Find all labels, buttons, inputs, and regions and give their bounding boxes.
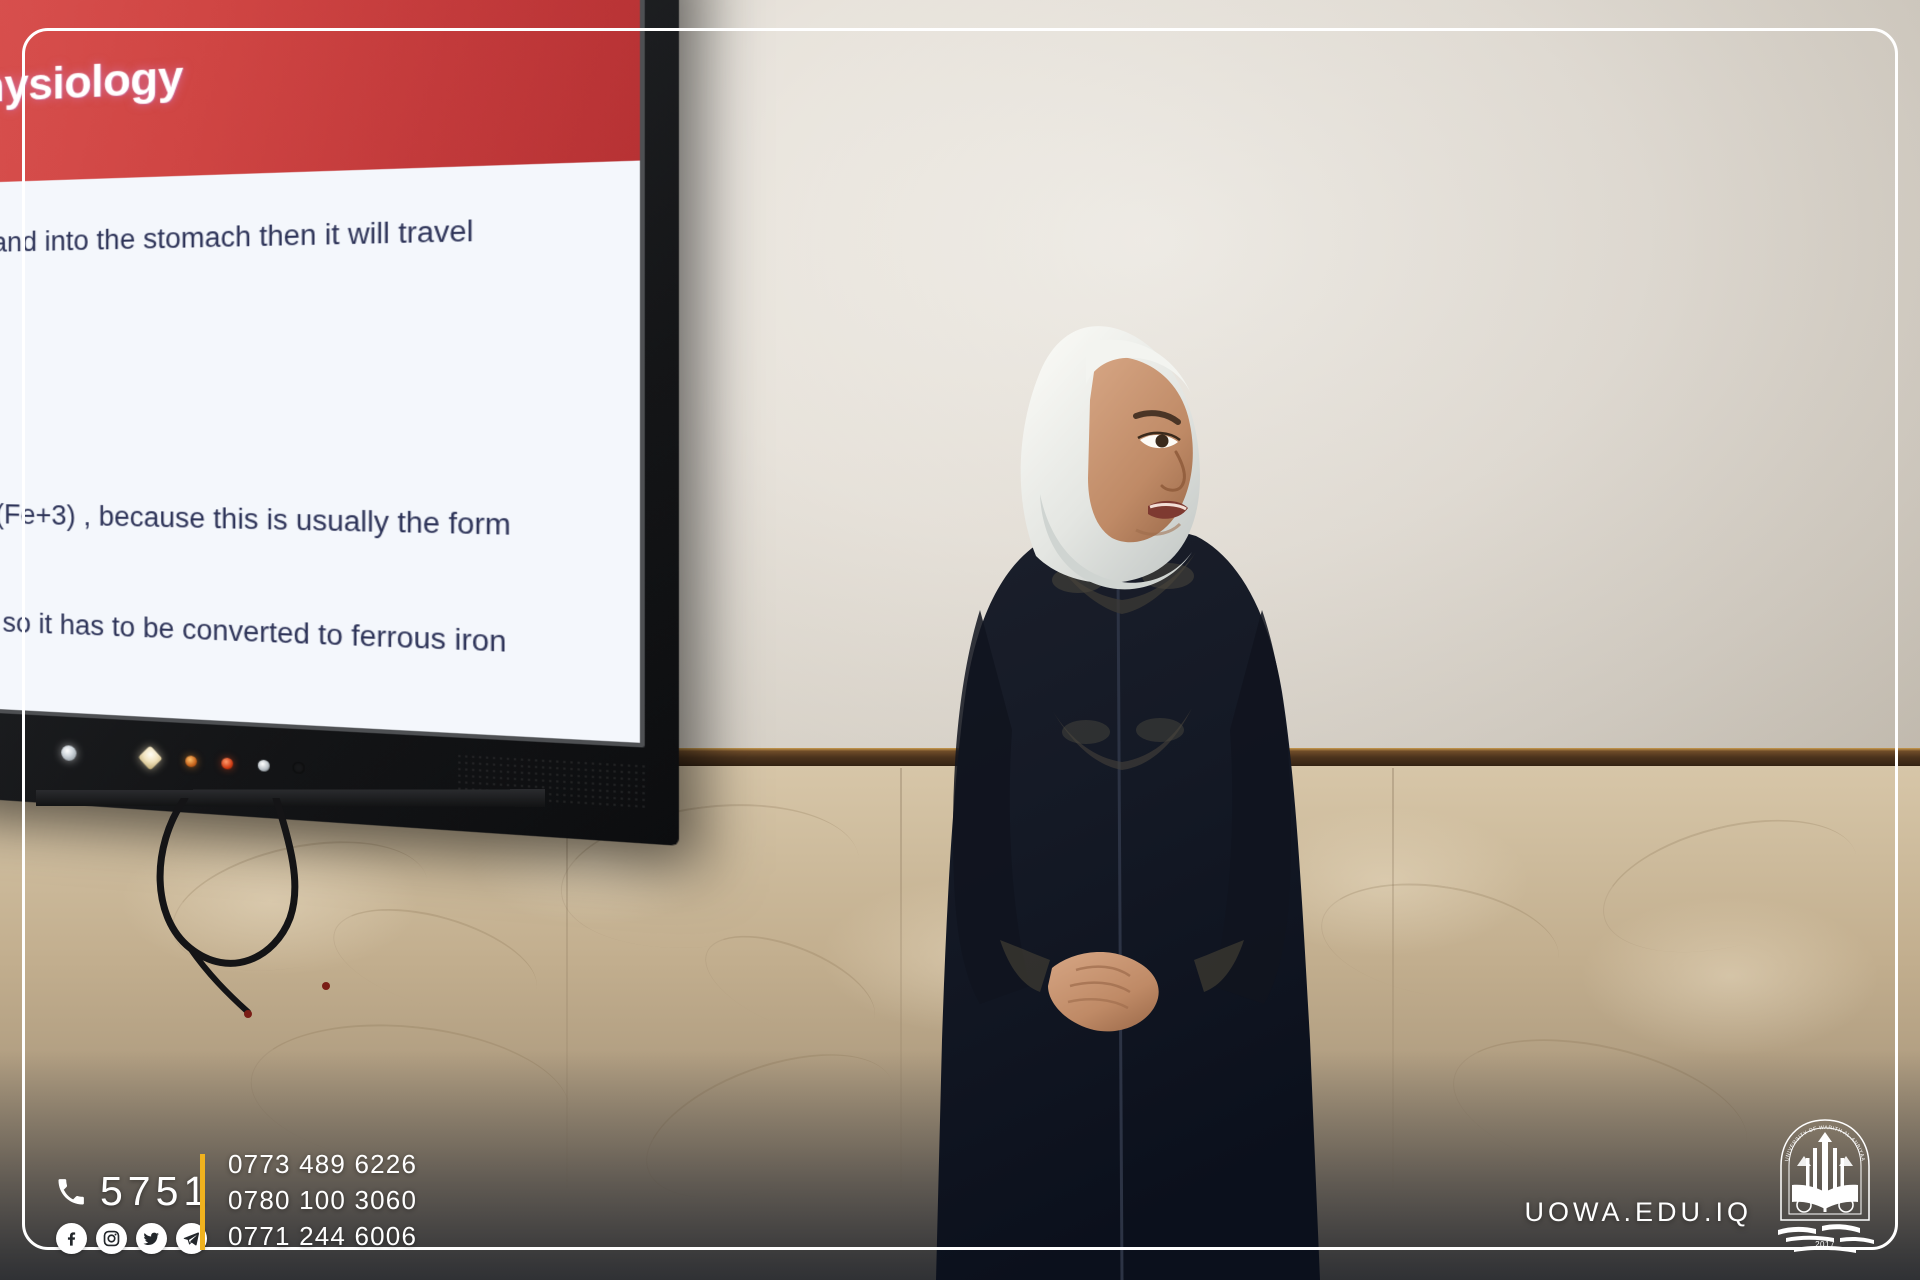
eye [1156,435,1169,448]
display-inner-frame: Physiology gus and into the stomach then… [0,0,645,748]
slide-body: gus and into the stomach then it will tr… [0,161,640,743]
power-button[interactable] [61,745,76,761]
slide-bullet: orm (Fe+3) , because this is usually the… [0,497,628,546]
slide-header: Physiology [0,0,640,183]
ir-receiver [293,762,305,774]
photo-canvas: Physiology gus and into the stomach then… [0,0,1920,1280]
slide-title: Physiology [0,52,183,114]
led-indicator-3 [258,760,270,772]
power-cable [90,798,410,1028]
display-panel[interactable]: Physiology gus and into the stomach then… [0,0,640,743]
interactive-flat-panel-display[interactable]: Physiology gus and into the stomach then… [0,0,616,908]
display-bezel: Physiology gus and into the stomach then… [0,0,679,846]
led-indicator-2 [221,757,233,769]
led-indicator-1 [185,755,197,767]
presenter-person [900,280,1360,1280]
slide-bullet: form so it has to be converted to ferrou… [0,604,628,665]
status-badge [138,745,163,770]
slide-bullet: gus and into the stomach then it will tr… [0,210,628,261]
